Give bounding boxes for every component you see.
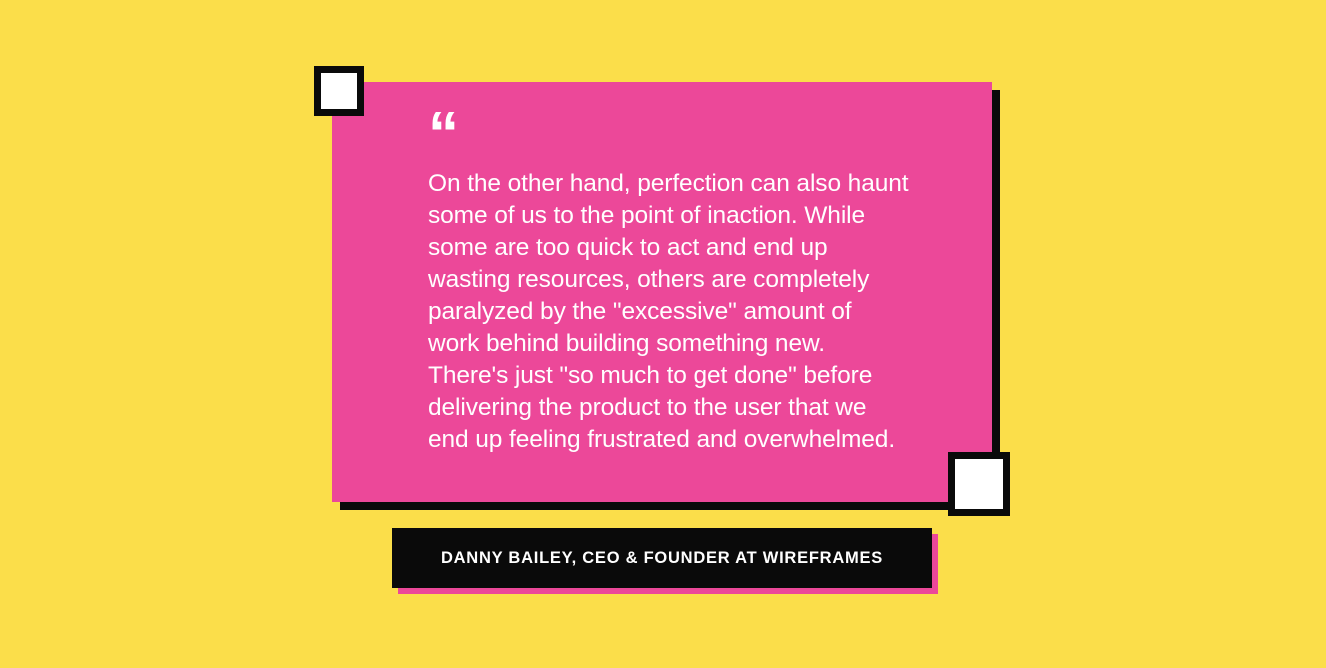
attribution-label: DANNY BAILEY, CEO & FOUNDER AT WIREFRAME… <box>441 549 883 568</box>
quote-text: On the other hand, perfection can also h… <box>428 168 962 456</box>
decorative-square-top-left <box>314 66 364 116</box>
quote-testimonial-slide: “ On the other hand, perfection can also… <box>0 0 1326 668</box>
attribution-bar: DANNY BAILEY, CEO & FOUNDER AT WIREFRAME… <box>392 528 932 588</box>
quote-content: “ On the other hand, perfection can also… <box>428 104 962 456</box>
decorative-square-bottom-right <box>948 452 1010 516</box>
quote-card: “ On the other hand, perfection can also… <box>332 82 992 502</box>
quotation-mark-icon: “ <box>428 104 962 162</box>
